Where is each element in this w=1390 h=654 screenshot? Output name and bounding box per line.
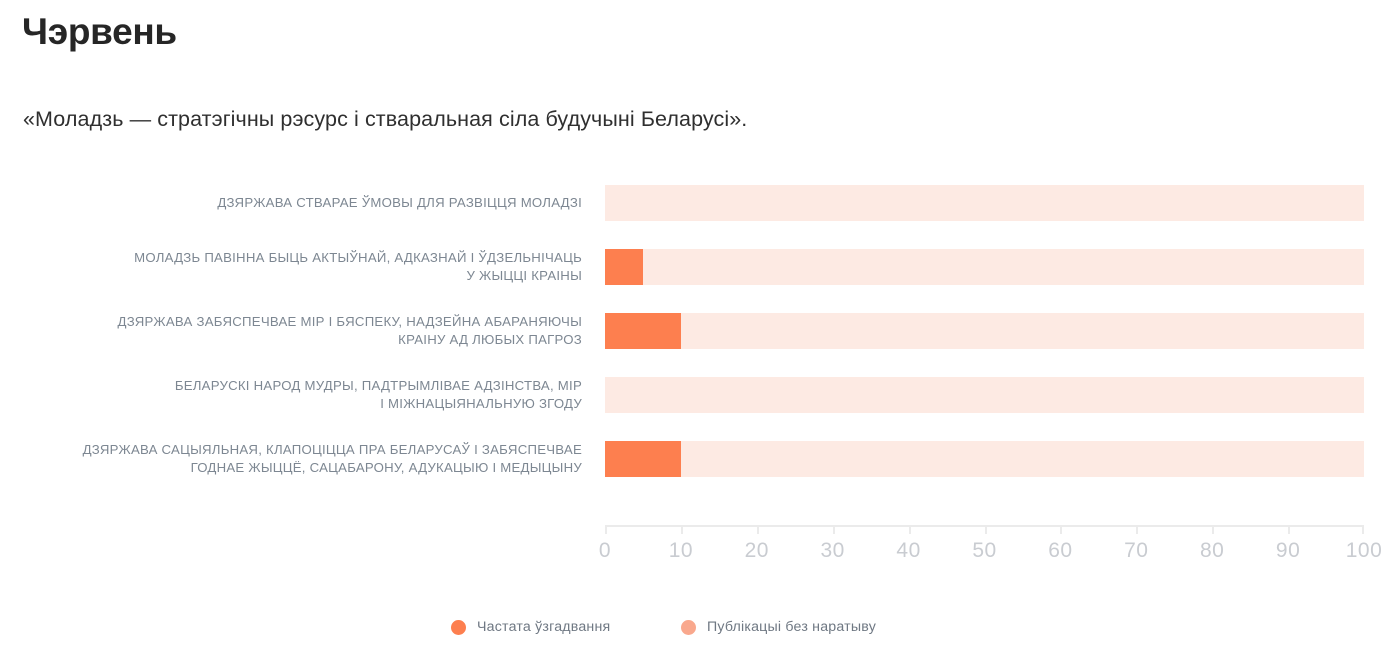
page-title: Чэрвень <box>22 10 177 54</box>
chart-row: ДЗЯРЖАВА ЗАБЯСПЕЧВАЕ МІР І БЯСПЕКУ, НАДЗ… <box>0 313 1390 349</box>
legend-label: Частата ўзгадвання <box>477 619 610 635</box>
category-label: ДЗЯРЖАВА СТВАРАЕ ЎМОВЫ ДЛЯ РАЗВІЦЦЯ МОЛА… <box>22 194 582 212</box>
x-axis-tick-label: 0 <box>599 539 611 563</box>
category-label: БЕЛАРУСКІ НАРОД МУДРЫ, ПАДТРЫМЛІВАЕ АДЗІ… <box>22 377 582 413</box>
bar-track[interactable] <box>605 313 1364 349</box>
x-axis-tick <box>985 525 987 534</box>
legend-dot-icon <box>681 620 696 635</box>
bar-segment-mentions[interactable] <box>605 249 643 285</box>
x-axis-tick-label: 20 <box>745 539 769 563</box>
bar-track[interactable] <box>605 249 1364 285</box>
x-axis-tick-label: 60 <box>1048 539 1072 563</box>
x-axis-tick <box>1288 525 1290 534</box>
page-subtitle: «Моладзь — стратэгічны рэсурс і ствараль… <box>23 106 747 134</box>
legend-label: Публікацыі без наратыву <box>707 619 876 635</box>
x-axis-tick-label: 40 <box>896 539 920 563</box>
x-axis-tick-label: 90 <box>1276 539 1300 563</box>
x-axis-tick <box>1060 525 1062 534</box>
bar-track[interactable] <box>605 185 1364 221</box>
chart-row: ДЗЯРЖАВА САЦЫЯЛЬНАЯ, КЛАПОЦІЦЦА ПРА БЕЛА… <box>0 441 1390 477</box>
chart-row: ДЗЯРЖАВА СТВАРАЕ ЎМОВЫ ДЛЯ РАЗВІЦЦЯ МОЛА… <box>0 185 1390 221</box>
bar-track[interactable] <box>605 441 1364 477</box>
chart-legend: Частата ўзгадванняПублікацыі без наратыв… <box>0 616 1390 646</box>
x-axis-tick <box>1212 525 1214 534</box>
bar-segment-mentions[interactable] <box>605 313 681 349</box>
x-axis-tick-label: 70 <box>1124 539 1148 563</box>
bar-segment-mentions[interactable] <box>605 441 681 477</box>
x-axis-tick <box>909 525 911 534</box>
x-axis-tick <box>757 525 759 534</box>
x-axis-tick-label: 10 <box>669 539 693 563</box>
x-axis-tick-label: 50 <box>972 539 996 563</box>
category-label: МОЛАДЗЬ ПАВІННА БЫЦЬ АКТЫЎНАЙ, АДКАЗНАЙ … <box>22 249 582 285</box>
x-axis-tick <box>1362 525 1364 534</box>
x-axis-tick <box>681 525 683 534</box>
category-label: ДЗЯРЖАВА САЦЫЯЛЬНАЯ, КЛАПОЦІЦЦА ПРА БЕЛА… <box>22 441 582 477</box>
legend-item[interactable]: Публікацыі без наратыву <box>681 616 876 638</box>
bar-track[interactable] <box>605 377 1364 413</box>
x-axis-tick-label: 30 <box>821 539 845 563</box>
x-axis-tick <box>833 525 835 534</box>
legend-item[interactable]: Частата ўзгадвання <box>451 616 610 638</box>
x-axis-tick-label: 80 <box>1200 539 1224 563</box>
x-axis-tick <box>605 525 607 534</box>
legend-dot-icon <box>451 620 466 635</box>
chart-row: МОЛАДЗЬ ПАВІННА БЫЦЬ АКТЫЎНАЙ, АДКАЗНАЙ … <box>0 249 1390 285</box>
chart-row: БЕЛАРУСКІ НАРОД МУДРЫ, ПАДТРЫМЛІВАЕ АДЗІ… <box>0 377 1390 413</box>
chart-page: Чэрвень «Моладзь — стратэгічны рэсурс і … <box>0 0 1390 654</box>
x-axis-tick-label: 100 <box>1346 539 1383 563</box>
bar-chart: ДЗЯРЖАВА СТВАРАЕ ЎМОВЫ ДЛЯ РАЗВІЦЦЯ МОЛА… <box>0 175 1390 595</box>
x-axis-tick <box>1136 525 1138 534</box>
x-axis: 0102030405060708090100 <box>605 525 1364 585</box>
category-label: ДЗЯРЖАВА ЗАБЯСПЕЧВАЕ МІР І БЯСПЕКУ, НАДЗ… <box>22 313 582 349</box>
